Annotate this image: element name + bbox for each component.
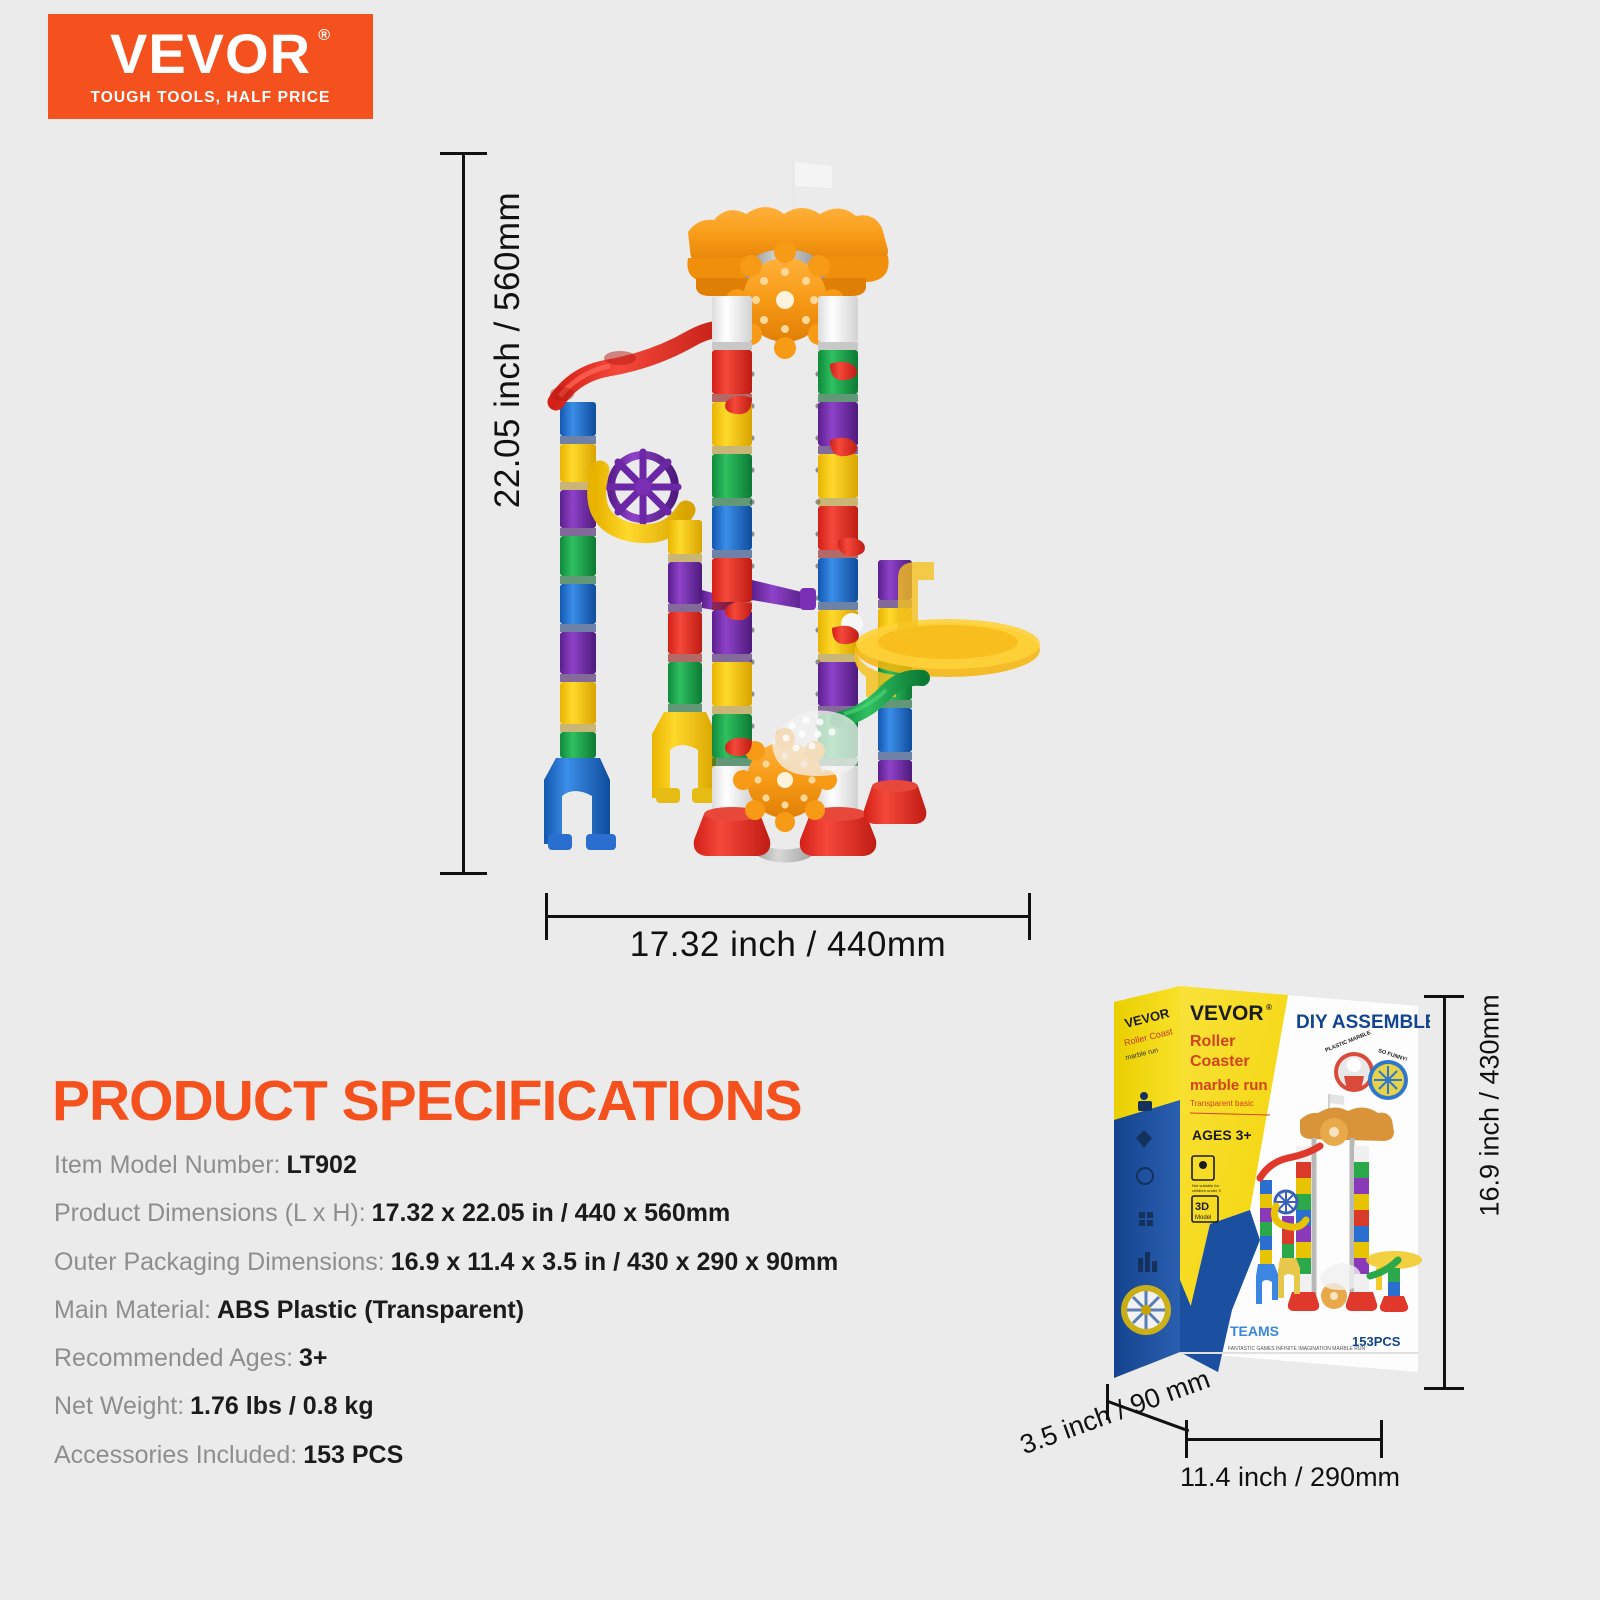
pkg-width-line <box>1185 1438 1383 1441</box>
box-3d-model-text: Model <box>1195 1215 1211 1221</box>
spec-key-model: Item Model Number: <box>54 1151 280 1179</box>
pkg-width-cap-right <box>1380 1420 1383 1458</box>
box-3d-text: 3D <box>1195 1201 1209 1213</box>
red-ramp-upper <box>550 329 732 402</box>
spec-key-accessories: Accessories Included: <box>54 1441 297 1469</box>
spec-row-net-weight: Net Weight:1.76 lbs / 0.8 kg <box>54 1391 954 1422</box>
spec-key-material: Main Material: <box>54 1296 211 1324</box>
box-side-panel: VEVOR Roller Coast marble run <box>1114 986 1180 1378</box>
box-headline: DIY ASSEMBLE <box>1296 1012 1430 1033</box>
box-subtitle: Transparent basic <box>1190 1099 1254 1108</box>
specs-list: Item Model Number:LT902 Product Dimensio… <box>54 1150 954 1488</box>
spec-row-ages: Recommended Ages:3+ <box>54 1343 954 1374</box>
width-dim-line <box>545 915 1031 918</box>
brand-name-text: VEVOR® <box>110 26 311 82</box>
box-title-line2: Coaster <box>1190 1053 1250 1070</box>
spec-row-accessories: Accessories Included:153 PCS <box>54 1440 954 1471</box>
brand-tagline: TOUGH TOOLS, HALF PRICE <box>90 89 330 107</box>
spec-value-material: ABS Plastic (Transparent) <box>217 1296 524 1324</box>
box-brand-registered: ® <box>1266 1003 1272 1012</box>
pkg-height-line <box>1443 995 1446 1390</box>
spec-row-product-dimensions: Product Dimensions (L x H):17.32 x 22.05… <box>54 1198 954 1229</box>
product-photo-marble-run <box>500 140 1100 900</box>
spec-value-packaging-dimensions: 16.9 x 11.4 x 3.5 in / 430 x 290 x 90mm <box>391 1248 839 1276</box>
box-piece-count: 153PCS <box>1352 1334 1401 1349</box>
vevor-logo: VEVOR® TOUGH TOOLS, HALF PRICE <box>48 14 373 119</box>
spec-key-net-weight: Net Weight: <box>54 1392 184 1420</box>
svg-text:children under 3: children under 3 <box>1192 1188 1221 1193</box>
spec-value-ages: 3+ <box>299 1344 328 1372</box>
specs-heading: PRODUCT SPECIFICATIONS <box>52 1068 802 1134</box>
box-ages-label: AGES 3+ <box>1192 1127 1252 1143</box>
spec-key-packaging-dimensions: Outer Packaging Dimensions: <box>54 1248 385 1276</box>
spec-row-model: Item Model Number:LT902 <box>54 1150 954 1181</box>
spec-key-ages: Recommended Ages: <box>54 1344 293 1372</box>
product-width-label: 17.32 inch / 440mm <box>545 925 1031 965</box>
box-front-panel: VEVOR ® Roller Coaster marble run Transp… <box>1180 986 1430 1372</box>
packaging-width-label: 11.4 inch / 290mm <box>1160 1462 1420 1493</box>
spec-value-model: LT902 <box>286 1151 356 1179</box>
box-footer-text: FANTASTIC GAMES INFINITE IMAGINATION MAR… <box>1228 1346 1365 1352</box>
spec-value-accessories: 153 PCS <box>303 1441 403 1469</box>
page-canvas: VEVOR® TOUGH TOOLS, HALF PRICE <box>0 0 1600 1600</box>
spec-value-product-dimensions: 17.32 x 22.05 in / 440 x 560mm <box>372 1199 731 1227</box>
box-brand-name: VEVOR <box>1190 1002 1264 1025</box>
spec-value-net-weight: 1.76 lbs / 0.8 kg <box>190 1392 373 1420</box>
box-side-wheel-emblem <box>1121 1285 1171 1335</box>
clear-dome <box>772 711 862 776</box>
box-teams-logo: TEAMS <box>1230 1323 1279 1339</box>
brand-name: VEVOR <box>110 22 311 85</box>
packaging-box-photo: VEVOR Roller Coast marble run <box>1100 980 1430 1400</box>
pkg-height-cap-bottom <box>1424 1387 1464 1390</box>
spec-row-material: Main Material:ABS Plastic (Transparent) <box>54 1295 954 1326</box>
box-title-line3: marble run <box>1190 1077 1268 1094</box>
height-dim-cap-bottom <box>440 872 487 875</box>
spec-row-packaging-dimensions: Outer Packaging Dimensions:16.9 x 11.4 x… <box>54 1247 954 1278</box>
spec-key-product-dimensions: Product Dimensions (L x H): <box>54 1199 366 1227</box>
packaging-height-label: 16.9 inch / 430mm <box>1475 961 1506 1251</box>
product-height-label: 22.05 inch / 560mm <box>488 185 528 515</box>
height-dim-line <box>462 152 465 875</box>
purple-connector <box>752 580 816 610</box>
registered-mark-icon: ® <box>318 28 331 44</box>
box-title-line1: Roller <box>1190 1033 1235 1050</box>
